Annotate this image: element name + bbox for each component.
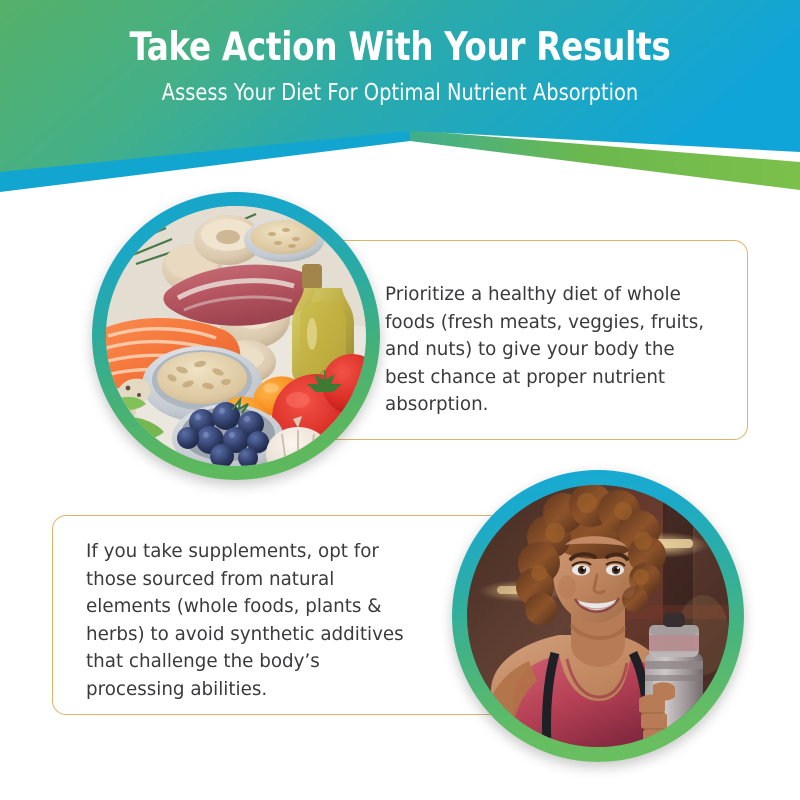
page-subtitle: Assess Your Diet For Optimal Nutrient Ab… [24,79,776,107]
healthy-food-photo [106,206,366,466]
header-text-group: Take Action With Your Results Assess You… [0,0,800,107]
infographic-canvas: Take Action With Your Results Assess You… [0,0,800,800]
person-illustration [467,485,729,747]
page-title: Take Action With Your Results [28,26,772,70]
woman-with-shaker-photo-ring [452,470,744,762]
tip-card-2-text: If you take supplements, opt for those s… [86,538,406,704]
healthy-food-photo-ring [92,192,380,480]
food-illustration [106,206,366,466]
woman-with-shaker-photo [467,485,729,747]
header-banner: Take Action With Your Results Assess You… [0,0,800,200]
tip-card-1-text: Prioritize a healthy diet of whole foods… [385,281,705,419]
